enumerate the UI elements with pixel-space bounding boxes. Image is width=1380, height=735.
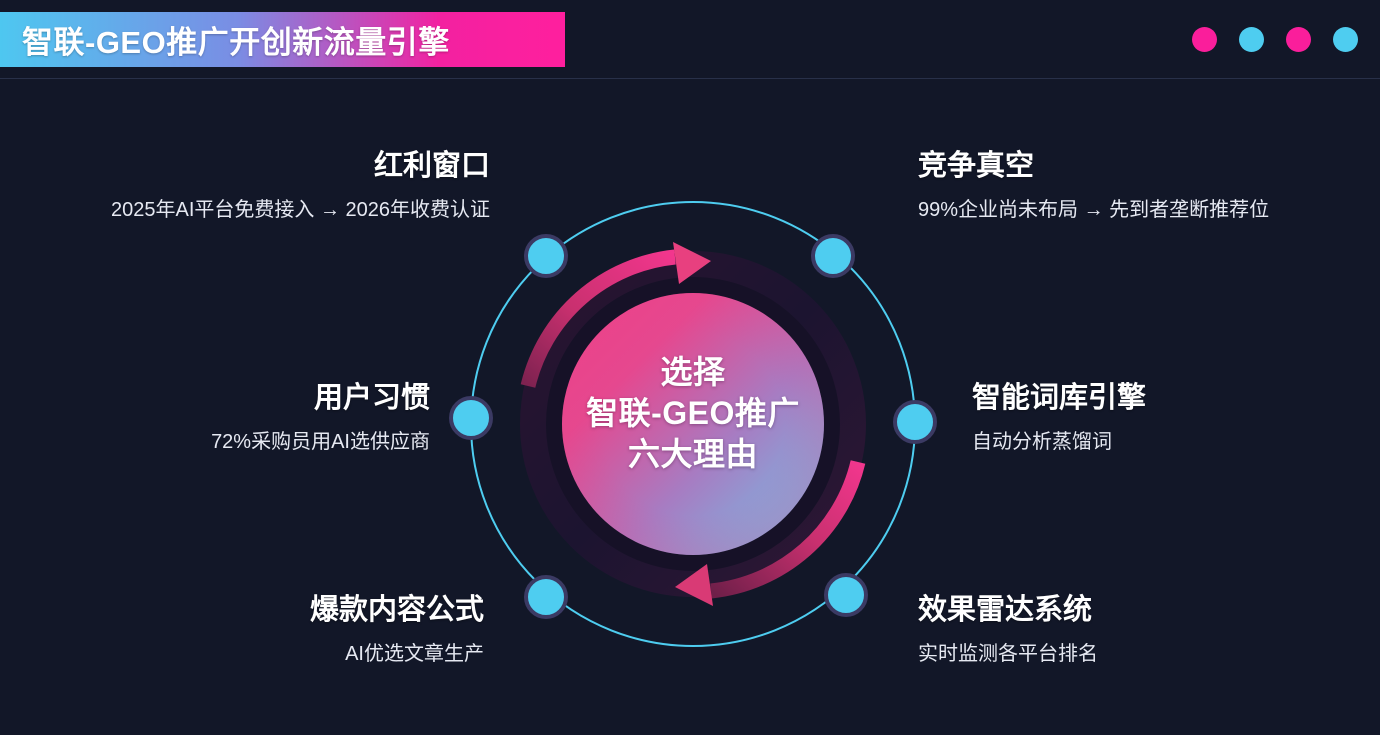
title-banner: 智联-GEO推广开创新流量引擎: [0, 12, 565, 67]
reason-item-hongli-chuangkou: 红利窗口 2025年AI平台免费接入 → 2026年收费认证: [0, 150, 490, 223]
reason-description: 自动分析蒸馏词: [972, 429, 1372, 455]
header-dot-cyan-1: [1239, 27, 1264, 52]
reason-item-zhineng-ciku-yinqing: 智能词库引擎 自动分析蒸馏词: [972, 382, 1372, 455]
reason-item-jingzheng-zhenkong: 竞争真空 99%企业尚未布局 → 先到者垄断推荐位: [918, 150, 1338, 223]
orbit-node-bottom-left[interactable]: [526, 577, 566, 617]
diagram-svg: [433, 164, 953, 684]
center-disc-glow: [562, 293, 824, 555]
orbit-node-middle-right[interactable]: [895, 402, 935, 442]
header-dot-group: [1192, 27, 1358, 52]
reason-description: 72%采购员用AI选供应商: [0, 429, 430, 455]
reason-title: 爆款内容公式: [0, 594, 484, 627]
reason-title: 红利窗口: [0, 150, 490, 183]
header-dot-magenta-2: [1286, 27, 1311, 52]
reason-item-yonghu-xiguan: 用户习惯 72%采购员用AI选供应商: [0, 382, 430, 455]
header-divider: [0, 78, 1380, 79]
page-title: 智联-GEO推广开创新流量引擎: [22, 17, 450, 62]
reason-title: 用户习惯: [0, 382, 430, 415]
header-dot-cyan-2: [1333, 27, 1358, 52]
orbit-node-middle-left[interactable]: [451, 398, 491, 438]
orbit-node-top-left[interactable]: [526, 236, 566, 276]
reason-title: 效果雷达系统: [918, 594, 1318, 627]
header-dot-magenta-1: [1192, 27, 1217, 52]
orbit-node-bottom-right[interactable]: [826, 575, 866, 615]
reason-title: 竞争真空: [918, 150, 1338, 183]
reason-description: 99%企业尚未布局 → 先到者垄断推荐位: [918, 197, 1338, 223]
orbit-node-top-right[interactable]: [813, 236, 853, 276]
reason-description: 2025年AI平台免费接入 → 2026年收费认证: [0, 197, 490, 223]
reason-title: 智能词库引擎: [972, 382, 1372, 415]
reason-description: AI优选文章生产: [0, 641, 484, 667]
reason-item-xiaoguo-leida-xitong: 效果雷达系统 实时监测各平台排名: [918, 594, 1318, 667]
reason-description: 实时监测各平台排名: [918, 641, 1318, 667]
slide-root: 智联-GEO推广开创新流量引擎: [0, 0, 1380, 735]
reason-item-baokuan-neirong-gongshi: 爆款内容公式 AI优选文章生产: [0, 594, 484, 667]
